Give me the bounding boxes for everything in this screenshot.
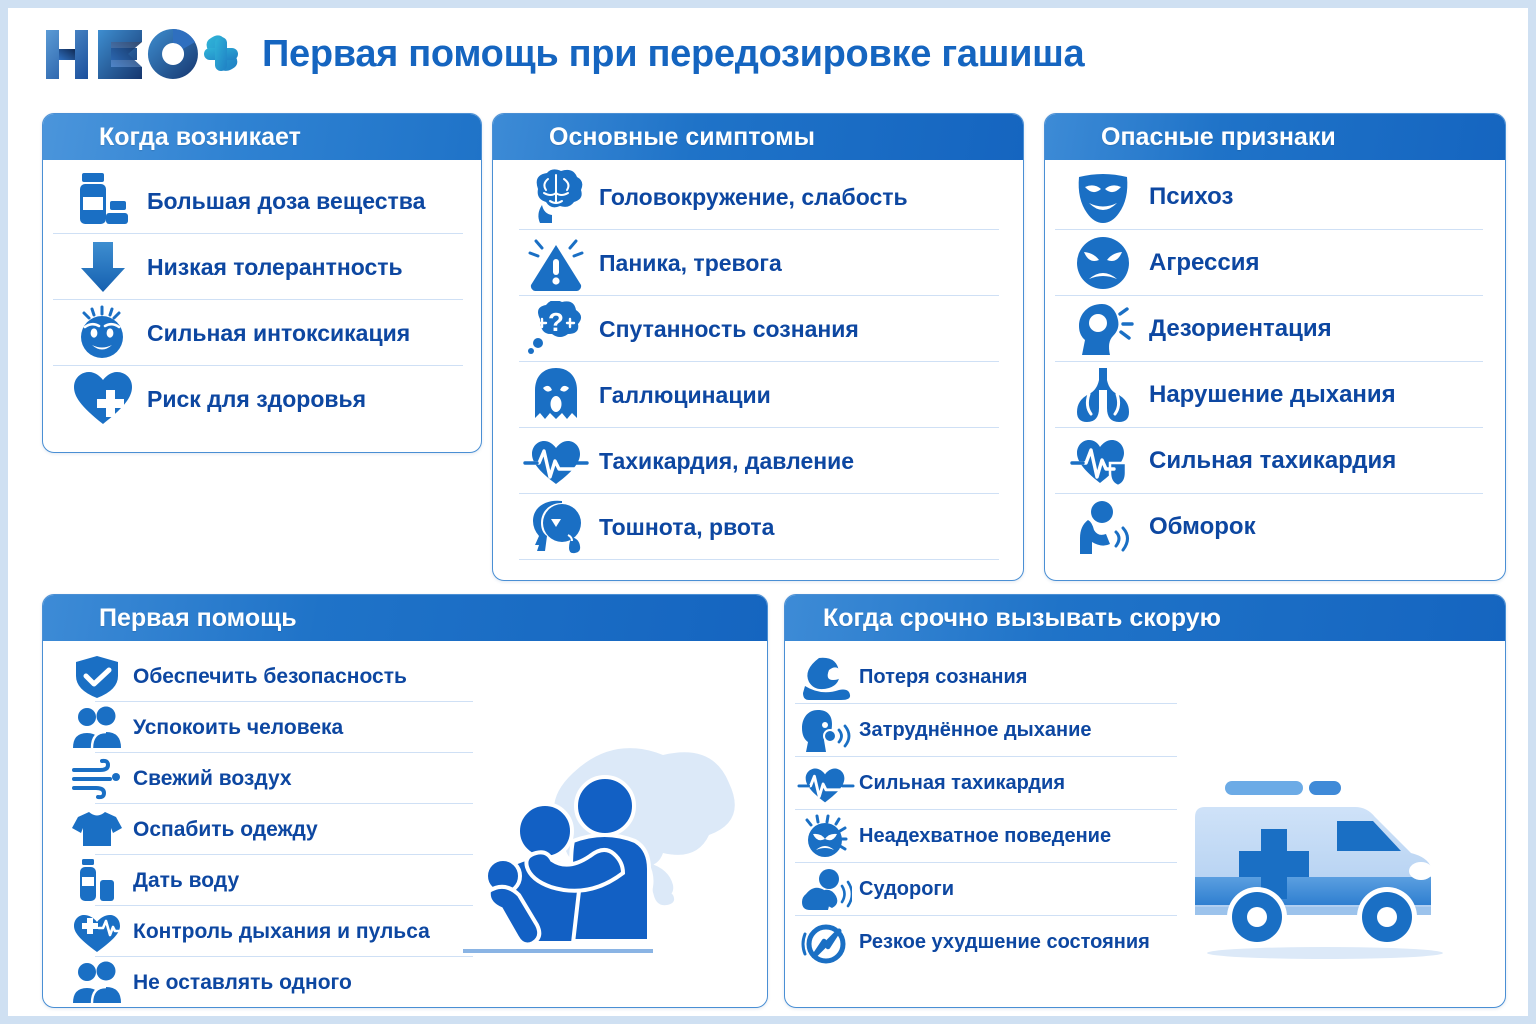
card-first-aid: Первая помощь Обеспечить безопасность: [42, 594, 768, 1008]
list-item[interactable]: Контроль дыхания и пульса: [43, 906, 483, 957]
angry-face-icon: [1065, 231, 1141, 295]
list-item-label: Паника, тревога: [599, 250, 782, 277]
disoriented-head-icon: [1065, 297, 1141, 361]
card-when-occurs: Когда возникает Большая доза вещества: [42, 113, 482, 453]
down-arrow-icon: [65, 235, 141, 299]
list-item[interactable]: Дать воду: [43, 855, 483, 906]
fainting-person-icon: [1065, 495, 1141, 559]
list-item-label: Дезориентация: [1149, 315, 1332, 343]
list-item-label: Затруднённое дыхание: [859, 719, 1092, 742]
list-item[interactable]: Большая доза вещества: [43, 168, 481, 234]
list-item[interactable]: Сильная тахикардия: [1045, 428, 1505, 494]
list-item-label: Дать воду: [133, 869, 239, 893]
evil-mask-icon: [1065, 165, 1141, 229]
list-item[interactable]: Затруднённое дыхание: [785, 704, 1177, 757]
separator: [95, 1007, 473, 1008]
list-item-label: Успокоить человека: [133, 716, 343, 740]
heart-pulse-icon: [521, 429, 591, 493]
heart-pulse-icon: [1065, 429, 1141, 493]
card-header: Основные симптомы: [493, 114, 1023, 162]
list-item-label: Неадехватное поведение: [859, 825, 1111, 848]
page-title: Первая помощь при передозировке гашиша: [262, 33, 1084, 76]
card-title: Когда возникает: [99, 123, 301, 152]
list-item-label: Потеря сознания: [859, 666, 1027, 689]
lungs-icon: [1065, 363, 1141, 427]
card-header: Когда срочно вызывать скорую: [785, 595, 1505, 643]
tshirt-icon: [65, 806, 129, 854]
dizzy-face-icon: [65, 301, 141, 365]
wind-icon: [65, 755, 129, 803]
pill-bottle-icon: [65, 169, 141, 233]
card-title: Первая помощь: [99, 604, 297, 633]
card-body: Обеспечить безопасность Успокоить челове…: [43, 643, 767, 1008]
worsening-crossed-icon: [797, 918, 855, 968]
heart-cross-pulse-icon: [65, 908, 129, 956]
list-item-label: Тахикардия, давление: [599, 448, 854, 475]
list-item[interactable]: Обморок: [1045, 494, 1505, 560]
list-item[interactable]: Дезориентация: [1045, 296, 1505, 362]
list-item[interactable]: Оспабить одежду: [43, 804, 483, 855]
list-item[interactable]: Тошнота, рвота: [493, 494, 1023, 560]
list-item-label: Головокружение, слабость: [599, 184, 908, 211]
list-item[interactable]: Головокружение, слабость: [493, 164, 1023, 230]
card-body: Большая доза вещества Низкая толерантнос…: [43, 162, 481, 453]
list-item[interactable]: Галлюцинации: [493, 362, 1023, 428]
ambulance-illustration: [1175, 767, 1475, 967]
separator: [1055, 559, 1483, 560]
card-body: Психоз Агрессия: [1045, 162, 1505, 581]
separator: [519, 559, 999, 560]
warning-triangle-icon: [521, 231, 591, 295]
list-item-label: Спутанность сознания: [599, 316, 859, 343]
card-header: Опасные признаки: [1045, 114, 1505, 162]
list-item[interactable]: Успокоить человека: [43, 702, 483, 753]
card-main-symptoms: Основные симптомы Головокруже: [492, 113, 1024, 581]
list-item[interactable]: Судороги: [785, 863, 1177, 916]
list-item[interactable]: Неадехватное поведение: [785, 810, 1177, 863]
shield-check-icon: [65, 653, 129, 701]
card-call-ambulance: Когда срочно вызывать скорую Потеря созн…: [784, 594, 1506, 1008]
list-item[interactable]: Паника, тревога: [493, 230, 1023, 296]
list-item-label: Обеспечить безопасность: [133, 665, 407, 689]
list-item[interactable]: Не оставлять одного: [43, 957, 483, 1008]
list-item-label: Контроль дыхания и пульса: [133, 920, 430, 944]
infographic-page: Первая помощь при передозировке гашиша К…: [8, 8, 1528, 1016]
card-header: Первая помощь: [43, 595, 767, 643]
heart-pulse-icon: [797, 759, 855, 809]
list-item-label: Агрессия: [1149, 249, 1259, 277]
ghost-icon: [521, 363, 591, 427]
card-danger-signs: Опасные признаки Психоз: [1044, 113, 1506, 581]
card-header: Когда возникает: [43, 114, 481, 162]
list-item-label: Не оставлять одного: [133, 971, 352, 995]
angry-dizzy-face-icon: [797, 812, 855, 862]
card-body: Потеря сознания Затруднённ: [785, 643, 1505, 1008]
list-item-label: Свежий воздух: [133, 767, 292, 791]
two-people-comforting-illustration: [453, 713, 753, 1003]
list-item-label: Психоз: [1149, 183, 1233, 211]
list-item[interactable]: Резкое ухудшение состояния: [785, 916, 1177, 969]
list-item[interactable]: Сильная интоксикация: [43, 300, 481, 366]
page-header: Первая помощь при передозировке гашиша: [8, 8, 1528, 100]
list-item[interactable]: Нарушение дыхания: [1045, 362, 1505, 428]
list-item-label: Сильная тахикардия: [1149, 447, 1396, 475]
list-item-label: Низкая толерантность: [147, 254, 403, 281]
card-title: Когда срочно вызывать скорую: [823, 604, 1221, 633]
list-item[interactable]: ? Спутанность сознания: [493, 296, 1023, 362]
neo-plus-logo: [42, 24, 238, 84]
list-item[interactable]: Агрессия: [1045, 230, 1505, 296]
breathing-difficulty-icon: [797, 706, 855, 756]
list-item[interactable]: Низкая толерантность: [43, 234, 481, 300]
list-item-label: Сильная интоксикация: [147, 320, 410, 347]
list-item[interactable]: Психоз: [1045, 164, 1505, 230]
list-item[interactable]: Свежий воздух: [43, 753, 483, 804]
list-item-label: Галлюцинации: [599, 382, 771, 409]
list-item-label: Риск для здоровья: [147, 386, 366, 413]
list-item-label: Тошнота, рвота: [599, 514, 774, 541]
convulsions-icon: [797, 865, 855, 915]
separator: [795, 968, 1177, 969]
separator: [53, 431, 463, 432]
list-item-label: Резкое ухудшение состояния: [859, 931, 1150, 954]
list-item[interactable]: Риск для здоровья: [43, 366, 481, 432]
vomiting-head-icon: [521, 495, 591, 559]
list-item[interactable]: Тахикардия, давление: [493, 428, 1023, 494]
heart-cross-icon: [65, 367, 141, 431]
two-people-icon: [65, 959, 129, 1007]
svg-text:?: ?: [548, 307, 564, 337]
list-item-label: Нарушение дыхания: [1149, 381, 1396, 409]
unconscious-head-icon: [797, 653, 855, 703]
list-item-label: Обморок: [1149, 513, 1256, 541]
card-body: Головокружение, слабость: [493, 162, 1023, 581]
brain-head-icon: [521, 165, 591, 229]
list-item-label: Большая доза вещества: [147, 188, 425, 215]
list-item[interactable]: Обеспечить безопасность: [43, 651, 483, 702]
water-bottle-icon: [65, 857, 129, 905]
list-item[interactable]: Сильная тахикардия: [785, 757, 1177, 810]
card-title: Опасные признаки: [1101, 123, 1336, 152]
two-people-icon: [65, 704, 129, 752]
list-item-label: Судороги: [859, 878, 954, 901]
list-item[interactable]: Потеря сознания: [785, 651, 1177, 704]
thought-question-icon: ?: [521, 297, 591, 361]
card-title: Основные симптомы: [549, 123, 815, 152]
list-item-label: Оспабить одежду: [133, 818, 318, 842]
list-item-label: Сильная тахикардия: [859, 772, 1065, 795]
